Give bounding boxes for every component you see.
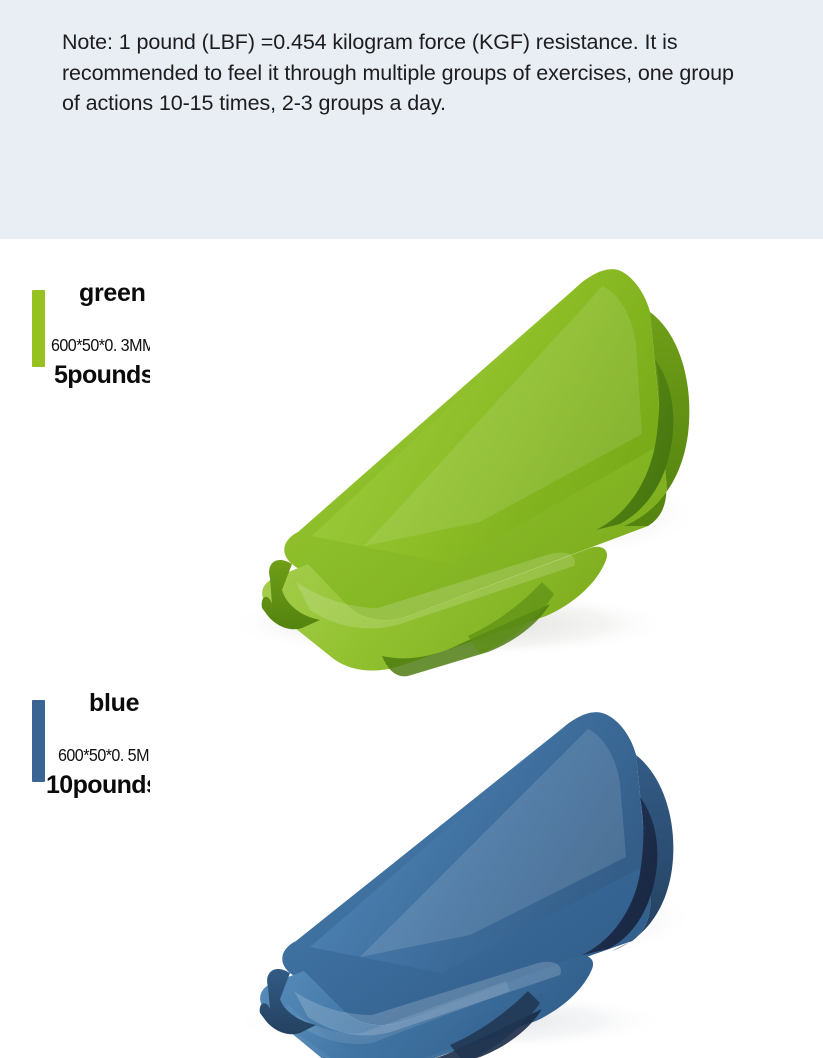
product-listing-page: Note: 1 pound (LBF) =0.454 kilogram forc…: [0, 0, 823, 1058]
color-swatch-blue: [32, 700, 45, 782]
resistance-band-photo-green: [150, 264, 710, 679]
color-swatch-green: [32, 290, 45, 367]
note-panel: Note: 1 pound (LBF) =0.454 kilogram forc…: [0, 0, 823, 239]
product-section-green: green 600*50*0. 3MM 5pounds: [0, 239, 823, 679]
resistance-text-green: 5pounds: [54, 361, 154, 390]
note-text: Note: 1 pound (LBF) =0.454 kilogram forc…: [62, 27, 752, 119]
color-name-green: green: [79, 279, 146, 308]
dimension-text-green: 600*50*0. 3MM: [51, 335, 155, 356]
product-section-blue: blue 600*50*0. 5MM 10pounds: [0, 679, 823, 1058]
dimension-text-blue: 600*50*0. 5MM: [58, 745, 162, 766]
resistance-band-photo-blue: [150, 709, 710, 1058]
resistance-text-blue: 10pounds: [46, 771, 159, 800]
color-name-blue: blue: [89, 689, 139, 718]
